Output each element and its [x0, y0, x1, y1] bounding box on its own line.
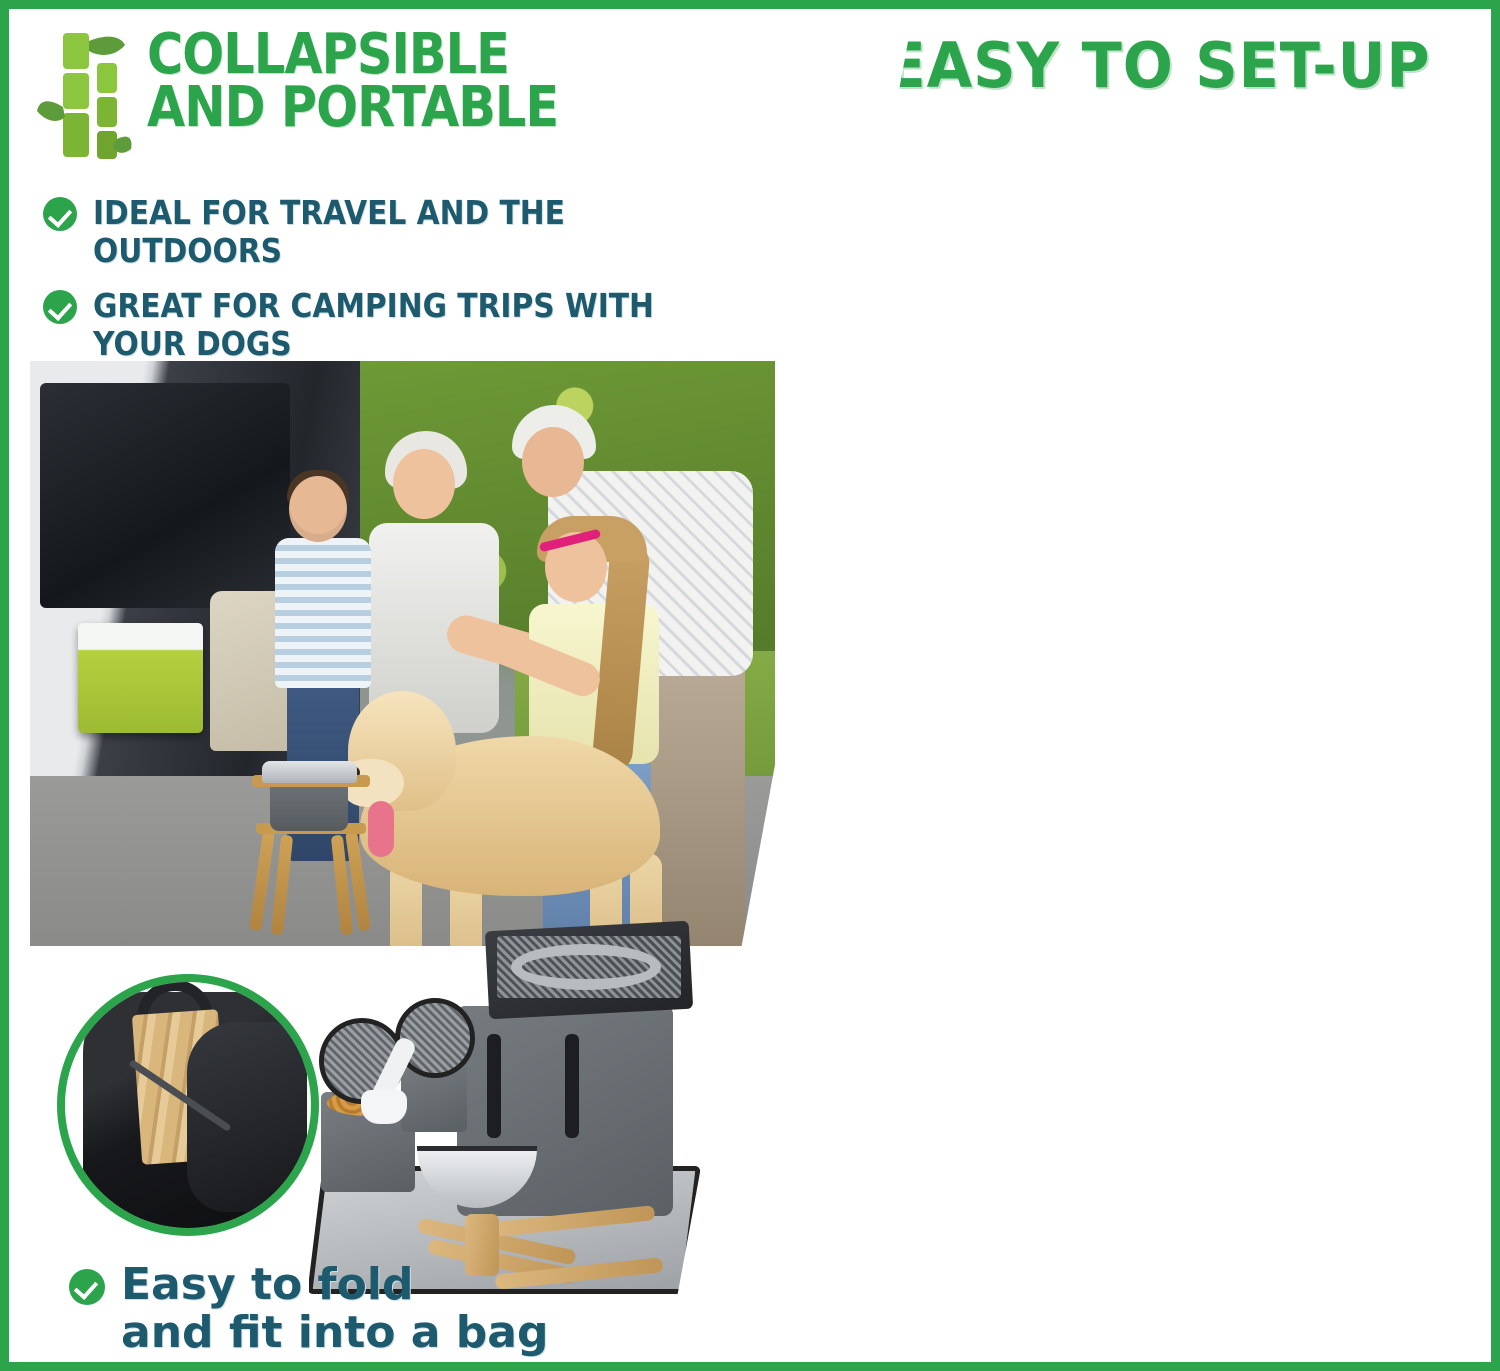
backpack-circle-inset — [57, 974, 319, 1236]
list-item: IDEAL FOR TRAVEL AND THE OUTDOORS — [43, 194, 823, 269]
page-title-line1: COLLAPSIBLE — [147, 29, 558, 82]
left-panel: COLLAPSIBLE AND PORTABLE IDEAL FOR TRAVE… — [9, 9, 914, 1362]
page-title: COLLAPSIBLE AND PORTABLE — [147, 23, 558, 134]
check-circle-icon — [69, 1269, 105, 1305]
left-headline-row: COLLAPSIBLE AND PORTABLE — [37, 23, 697, 173]
right-panel-title: EASY TO SET-UP — [868, 35, 1448, 97]
right-panel: EASY TO SET-UP WELL-PACKAGED DOG BOWL ST… — [791, 9, 1491, 1362]
footer-caption-line1: Easy to fold — [121, 1261, 548, 1309]
bullet-label-2: GREAT FOR CAMPING TRIPS WITH YOUR DOGS — [93, 287, 750, 362]
list-item: GREAT FOR CAMPING TRIPS WITH YOUR DOGS — [43, 287, 823, 362]
infographic-poster: EASY TO SET-UP WELL-PACKAGED DOG BOWL ST… — [0, 0, 1500, 1371]
travel-bag-photo — [309, 914, 719, 1314]
bullet-label-1: IDEAL FOR TRAVEL AND THE OUTDOORS — [93, 194, 750, 269]
footer-caption-line2: and fit into a bag — [121, 1309, 548, 1357]
footer-caption-text: Easy to fold and fit into a bag — [121, 1261, 548, 1356]
check-circle-icon — [43, 290, 77, 324]
check-circle-icon — [43, 197, 77, 231]
footer-caption: Easy to fold and fit into a bag — [69, 1261, 548, 1356]
page-title-line2: AND PORTABLE — [147, 82, 558, 135]
bamboo-stalks-icon — [37, 23, 133, 173]
feature-bullet-list: IDEAL FOR TRAVEL AND THE OUTDOORS GREAT … — [43, 194, 823, 380]
hero-lifestyle-photo — [30, 361, 775, 946]
